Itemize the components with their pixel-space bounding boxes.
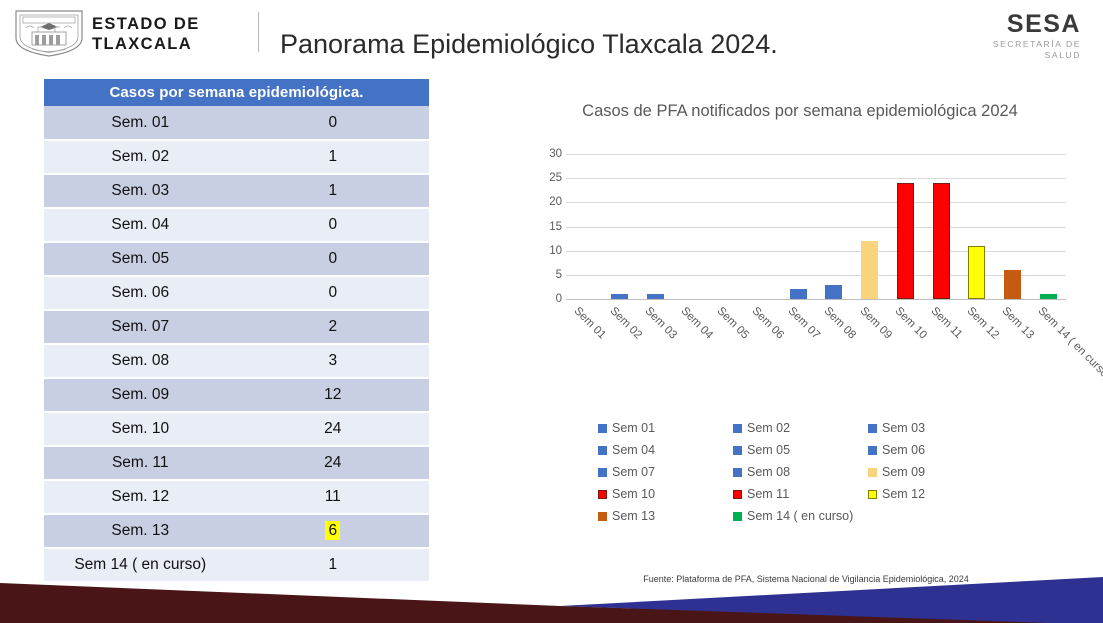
x-axis-label-slot: Sem 02	[602, 301, 638, 421]
page-header: ESTADO DE TLAXCALA Panorama Epidemiológi…	[0, 0, 1103, 72]
bar-slot	[637, 154, 673, 299]
legend-swatch-icon	[868, 490, 877, 499]
legend-swatch-icon	[598, 468, 607, 477]
legend-item[interactable]: Sem 07	[598, 465, 733, 479]
legend-swatch-icon	[733, 446, 742, 455]
table-cell-value: 12	[237, 378, 430, 412]
table-cell-value: 1	[237, 174, 430, 208]
cases-table-container: Casos por semana epidemiológica. Sem. 01…	[44, 79, 429, 583]
x-axis-label-slot: Sem 05	[709, 301, 745, 421]
x-axis-label-slot: Sem 03	[637, 301, 673, 421]
x-axis-label-slot: Sem 07	[780, 301, 816, 421]
legend-label: Sem 13	[612, 509, 655, 523]
table-cell-value: 6	[237, 514, 430, 548]
chart-bar[interactable]	[897, 183, 914, 299]
legend-swatch-icon	[733, 468, 742, 477]
page-title: Panorama Epidemiológico Tlaxcala 2024.	[280, 29, 778, 60]
legend-label: Sem 05	[747, 443, 790, 457]
table-cell-week: Sem. 06	[44, 276, 237, 310]
legend-item[interactable]: Sem 12	[868, 487, 1003, 501]
table-cell-value: 0	[237, 106, 430, 140]
x-axis-line	[566, 299, 1066, 300]
bar-slot	[995, 154, 1031, 299]
table-cell-week: Sem. 10	[44, 412, 237, 446]
legend-label: Sem 01	[612, 421, 655, 435]
legend-swatch-icon	[598, 446, 607, 455]
bar-slot	[959, 154, 995, 299]
table-row: Sem. 0912	[44, 378, 429, 412]
chart-bar[interactable]	[861, 241, 878, 299]
table-cell-value: 0	[237, 242, 430, 276]
bar-slot	[816, 154, 852, 299]
legend-label: Sem 14 ( en curso)	[747, 509, 853, 523]
legend-item[interactable]: Sem 11	[733, 487, 868, 501]
table-cell-week: Sem. 07	[44, 310, 237, 344]
table-row: Sem. 040	[44, 208, 429, 242]
table-row: Sem. 050	[44, 242, 429, 276]
sesa-subtitle-line2: SALUD	[993, 50, 1081, 61]
x-axis-label-slot: Sem 06	[745, 301, 781, 421]
legend-item[interactable]: Sem 02	[733, 421, 868, 435]
legend-swatch-icon	[598, 490, 607, 499]
legend-swatch-icon	[733, 424, 742, 433]
chart-title: Casos de PFA notificados por semana epid…	[565, 96, 1035, 122]
legend-swatch-icon	[868, 468, 877, 477]
sesa-subtitle-line1: SECRETARÍA DE	[993, 39, 1081, 50]
table-row: Sem. 060	[44, 276, 429, 310]
chart-container: Casos de PFA notificados por semana epid…	[520, 96, 1080, 566]
chart-bar[interactable]	[825, 285, 842, 300]
y-axis-tick-label: 25	[549, 172, 562, 184]
x-axis-label-slot: Sem 09	[852, 301, 888, 421]
legend-label: Sem 03	[882, 421, 925, 435]
table-row: Sem. 010	[44, 106, 429, 140]
legend-item[interactable]: Sem 04	[598, 443, 733, 457]
y-axis-tick-label: 15	[549, 221, 562, 233]
legend-item[interactable]: Sem 09	[868, 465, 1003, 479]
table-row: Sem. 031	[44, 174, 429, 208]
table-row: Sem. 083	[44, 344, 429, 378]
table-row: Sem. 1124	[44, 446, 429, 480]
bar-slot	[745, 154, 781, 299]
legend-label: Sem 02	[747, 421, 790, 435]
y-axis-tick-label: 10	[549, 245, 562, 257]
cases-by-week-table: Casos por semana epidemiológica. Sem. 01…	[44, 79, 429, 583]
legend-label: Sem 06	[882, 443, 925, 457]
legend-swatch-icon	[733, 490, 742, 499]
bottom-banner	[0, 575, 1103, 623]
chart-plot-area: 051015202530	[520, 154, 1080, 309]
table-row: Sem. 021	[44, 140, 429, 174]
table-cell-value: 24	[237, 412, 430, 446]
chart-bar[interactable]	[1040, 294, 1057, 299]
y-axis-tick-label: 20	[549, 196, 562, 208]
y-axis-tick-label: 5	[556, 269, 562, 281]
table-cell-week: Sem. 11	[44, 446, 237, 480]
bar-slot	[566, 154, 602, 299]
tlaxcala-coat-of-arms-icon	[12, 8, 86, 58]
y-axis-tick-label: 0	[556, 293, 562, 305]
x-axis-labels: Sem 01Sem 02Sem 03Sem 04Sem 05Sem 06Sem …	[566, 301, 1066, 421]
legend-label: Sem 04	[612, 443, 655, 457]
table-cell-week: Sem. 09	[44, 378, 237, 412]
bar-slot	[852, 154, 888, 299]
x-axis-label-slot: Sem 11	[923, 301, 959, 421]
chart-bar[interactable]	[933, 183, 950, 299]
x-axis-label-slot: Sem 01	[566, 301, 602, 421]
bar-slot	[1030, 154, 1066, 299]
table-cell-week: Sem. 02	[44, 140, 237, 174]
legend-label: Sem 09	[882, 465, 925, 479]
legend-item[interactable]: Sem 03	[868, 421, 1003, 435]
chart-bars	[566, 154, 1066, 299]
table-cell-week: Sem. 03	[44, 174, 237, 208]
legend-item[interactable]: Sem 13	[598, 509, 733, 523]
legend-swatch-icon	[598, 424, 607, 433]
legend-label: Sem 11	[747, 487, 789, 501]
table-row: Sem. 136	[44, 514, 429, 548]
table-cell-value: 24	[237, 446, 430, 480]
sesa-wordmark: SESA	[993, 12, 1081, 37]
table-cell-week: Sem. 13	[44, 514, 237, 548]
table-cell-week: Sem. 04	[44, 208, 237, 242]
legend-label: Sem 10	[612, 487, 655, 501]
bar-slot	[780, 154, 816, 299]
table-cell-week: Sem. 01	[44, 106, 237, 140]
table-cell-week: Sem. 05	[44, 242, 237, 276]
cases-table-body: Sem. 010Sem. 021Sem. 031Sem. 040Sem. 050…	[44, 106, 429, 582]
legend-swatch-icon	[868, 446, 877, 455]
table-cell-value: 0	[237, 276, 430, 310]
legend-label: Sem 08	[747, 465, 790, 479]
legend-label: Sem 07	[612, 465, 655, 479]
bar-slot	[602, 154, 638, 299]
table-caption: Casos por semana epidemiológica.	[44, 79, 429, 106]
x-axis-label-slot: Sem 10	[887, 301, 923, 421]
chart-legend: Sem 01Sem 02Sem 03Sem 04Sem 05Sem 06Sem …	[598, 421, 1018, 523]
legend-swatch-icon	[733, 512, 742, 521]
chart-bar[interactable]	[790, 289, 807, 299]
x-axis-label-slot: Sem 14 ( en curso)	[1030, 301, 1066, 421]
chart-bar[interactable]	[968, 246, 985, 299]
state-wordmark-line1: ESTADO DE	[92, 14, 200, 34]
table-cell-value: 3	[237, 344, 430, 378]
legend-item[interactable]: Sem 08	[733, 465, 868, 479]
legend-item[interactable]: Sem 01	[598, 421, 733, 435]
legend-item[interactable]: Sem 14 ( en curso)	[733, 509, 868, 523]
table-row: Sem. 1024	[44, 412, 429, 446]
chart-bar[interactable]	[647, 294, 664, 299]
legend-label: Sem 12	[882, 487, 925, 501]
state-wordmark-line2: TLAXCALA	[92, 34, 200, 54]
table-cell-value: 2	[237, 310, 430, 344]
table-cell-value: 0	[237, 208, 430, 242]
x-axis-label-slot: Sem 13	[995, 301, 1031, 421]
x-axis-label-slot: Sem 08	[816, 301, 852, 421]
bar-slot	[709, 154, 745, 299]
sesa-subtitle: SECRETARÍA DE SALUD	[993, 39, 1081, 60]
table-row: Sem. 072	[44, 310, 429, 344]
sesa-logo: SESA SECRETARÍA DE SALUD	[993, 12, 1081, 60]
state-wordmark: ESTADO DE TLAXCALA	[92, 14, 200, 54]
legend-item[interactable]: Sem 06	[868, 443, 1003, 457]
header-divider	[258, 12, 259, 52]
table-cell-value: 11	[237, 480, 430, 514]
bar-slot	[887, 154, 923, 299]
legend-swatch-icon	[868, 424, 877, 433]
table-cell-value: 1	[237, 140, 430, 174]
legend-swatch-icon	[598, 512, 607, 521]
table-cell-week: Sem. 12	[44, 480, 237, 514]
x-axis-label-slot: Sem 04	[673, 301, 709, 421]
highlighted-value: 6	[325, 521, 340, 540]
x-axis-tick-label: Sem 14 ( en curso)	[1036, 305, 1103, 383]
bar-slot	[923, 154, 959, 299]
table-cell-week: Sem. 08	[44, 344, 237, 378]
x-axis-label-slot: Sem 12	[959, 301, 995, 421]
legend-item[interactable]: Sem 05	[733, 443, 868, 457]
bar-slot	[673, 154, 709, 299]
table-row: Sem. 1211	[44, 480, 429, 514]
y-axis-labels: 051015202530	[520, 154, 562, 309]
y-axis-tick-label: 30	[549, 148, 562, 160]
chart-bar[interactable]	[1004, 270, 1021, 299]
chart-bar[interactable]	[611, 294, 628, 299]
legend-item[interactable]: Sem 10	[598, 487, 733, 501]
